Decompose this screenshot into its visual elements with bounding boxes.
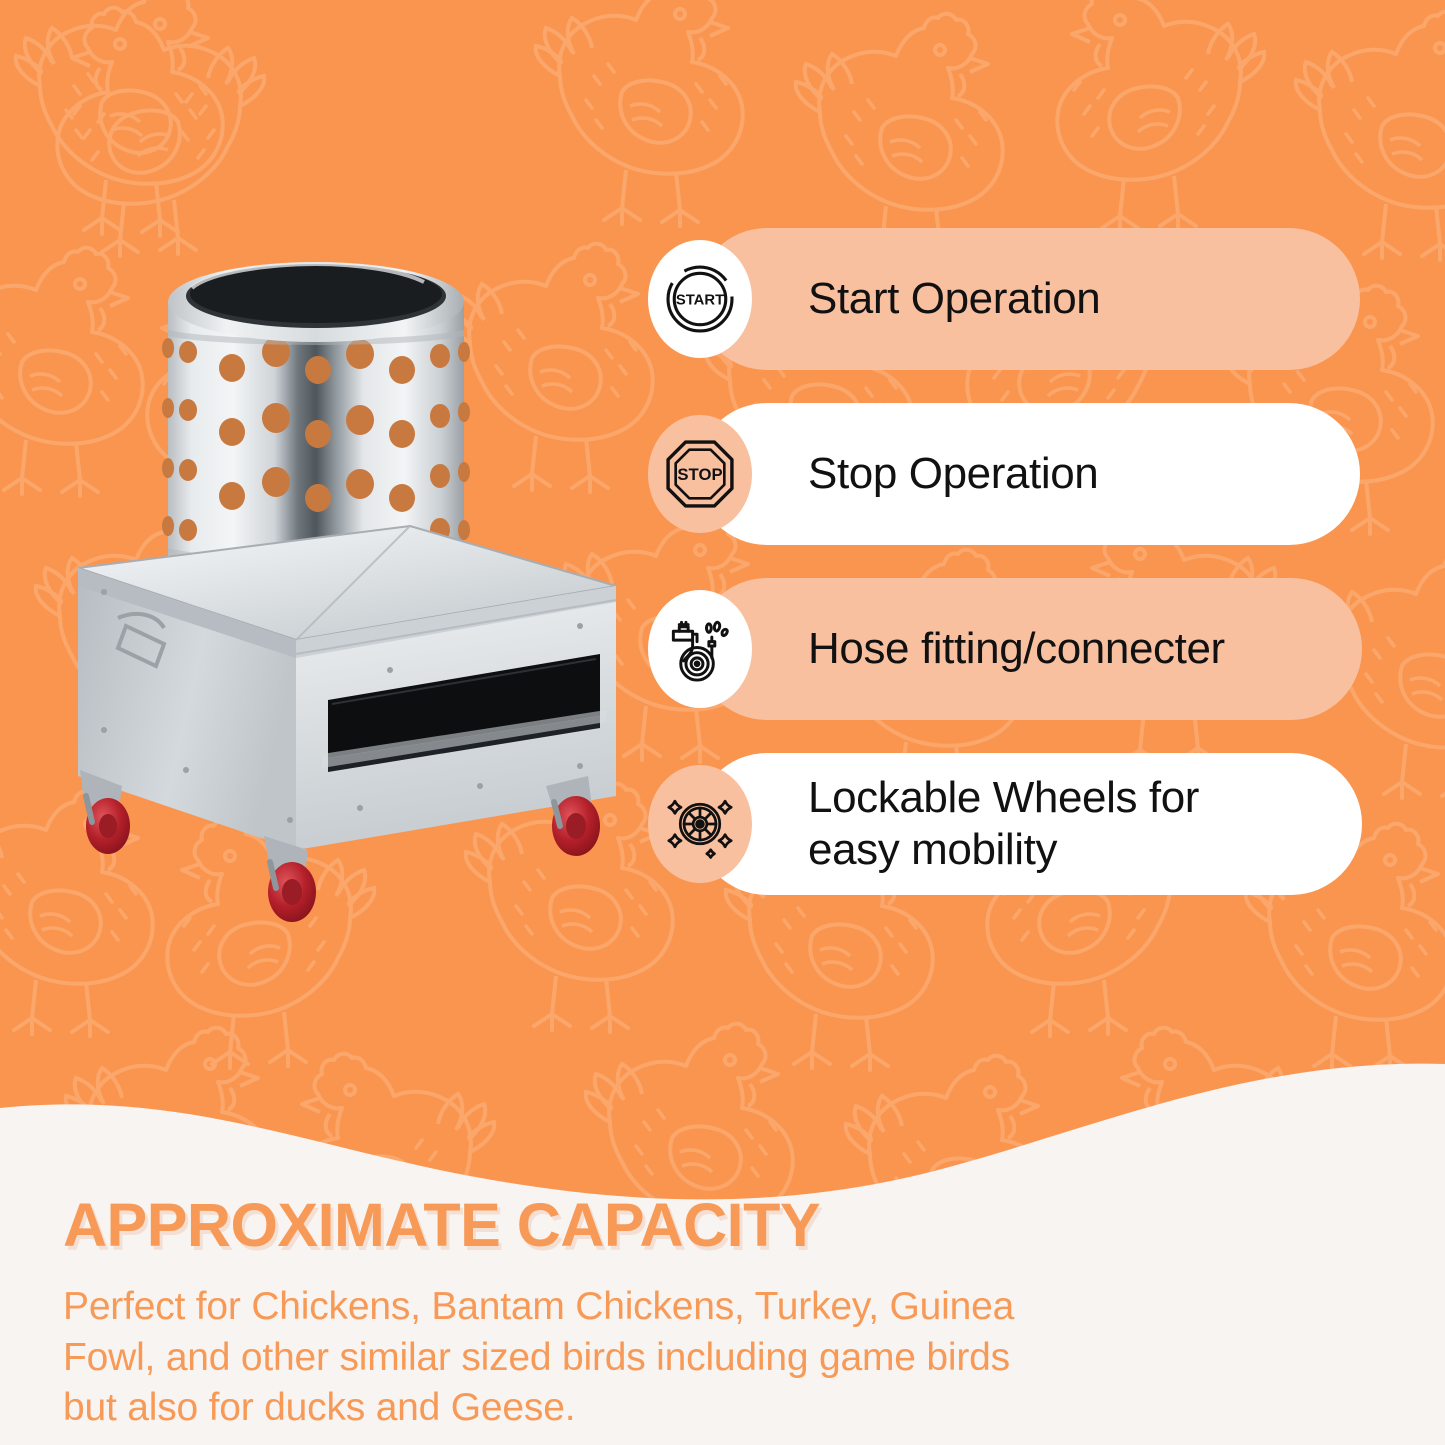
- capacity-section: APPROXIMATE CAPACITY Perfect for Chicken…: [63, 1195, 1383, 1434]
- feature-row-hose-fitting[interactable]: Hose fitting/connecter: [648, 578, 1362, 720]
- plucker-base-cabinet: [78, 526, 616, 850]
- feature-list: START Start Operation STOP Stop Operatio…: [648, 228, 1378, 928]
- feature-label: Stop Operation: [808, 403, 1098, 545]
- start-button-icon: START: [648, 240, 752, 358]
- feature-label: Lockable Wheels for easy mobility: [808, 753, 1199, 895]
- feature-row-lockable-wheels[interactable]: Lockable Wheels for easy mobility: [648, 753, 1362, 895]
- product-image-chicken-plucker: [60, 230, 630, 970]
- lockable-wheel-icon: [648, 765, 752, 883]
- feature-row-start-operation[interactable]: START Start Operation: [648, 228, 1360, 370]
- stop-sign-icon: STOP: [648, 415, 752, 533]
- feature-label: Hose fitting/connecter: [808, 578, 1225, 720]
- svg-text:STOP: STOP: [677, 465, 722, 484]
- feature-label: Start Operation: [808, 228, 1100, 370]
- svg-text:START: START: [676, 292, 724, 308]
- capacity-heading: APPROXIMATE CAPACITY: [63, 1195, 1383, 1256]
- feature-row-stop-operation[interactable]: STOP Stop Operation: [648, 403, 1360, 545]
- capacity-description: Perfect for Chickens, Bantam Chickens, T…: [63, 1282, 1383, 1434]
- infographic-canvas: START Start Operation STOP Stop Operatio…: [0, 0, 1445, 1445]
- hose-faucet-icon: [648, 590, 752, 708]
